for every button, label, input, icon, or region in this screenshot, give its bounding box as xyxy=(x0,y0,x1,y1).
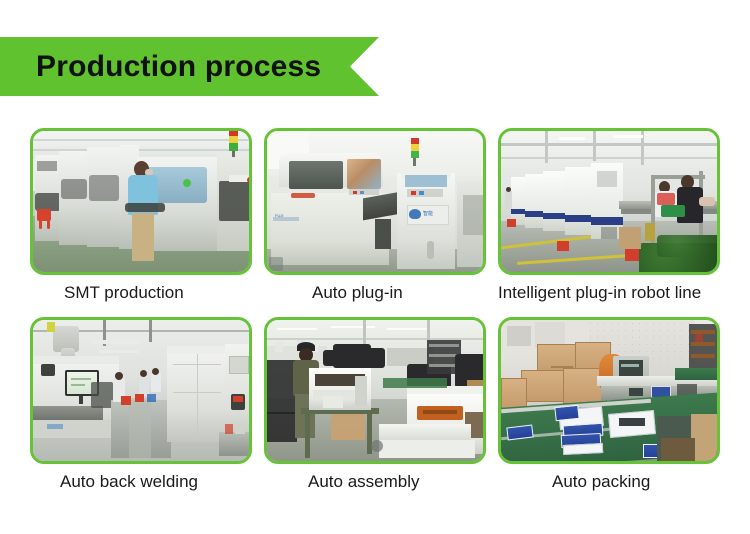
card-caption: Auto plug-in xyxy=(264,283,486,303)
process-card-smt-production[interactable]: SMT production xyxy=(30,128,252,303)
photo-frame xyxy=(30,128,252,275)
process-card-auto-plug-in[interactable]: FUJI 智能 xyxy=(264,128,486,303)
photo-frame: FUJI 智能 xyxy=(264,128,486,275)
page-title-banner: Production process xyxy=(0,37,379,96)
process-card-grid: SMT production FUJI xyxy=(30,128,720,492)
process-card-auto-back-welding[interactable]: Auto back welding xyxy=(30,317,252,492)
photo-frame xyxy=(264,317,486,464)
card-caption: SMT production xyxy=(30,283,252,303)
card-caption: Auto assembly xyxy=(264,472,486,492)
card-caption: Auto packing xyxy=(498,472,720,492)
intelligent-plug-in-robot-line-photo xyxy=(501,131,717,272)
process-card-intelligent-plug-in-robot-line[interactable]: Intelligent plug-in robot line xyxy=(498,128,720,303)
auto-plug-in-photo: FUJI 智能 xyxy=(267,131,483,272)
card-caption: Intelligent plug-in robot line xyxy=(498,283,720,303)
photo-frame xyxy=(498,128,720,275)
auto-packing-photo xyxy=(501,320,717,461)
process-card-auto-packing[interactable]: Auto packing xyxy=(498,317,720,492)
process-card-auto-assembly[interactable]: Auto assembly xyxy=(264,317,486,492)
page-title: Production process xyxy=(36,37,321,96)
auto-back-welding-photo xyxy=(33,320,249,461)
photo-frame xyxy=(30,317,252,464)
smt-production-photo xyxy=(33,131,249,272)
photo-frame xyxy=(498,317,720,464)
card-caption: Auto back welding xyxy=(30,472,252,492)
auto-assembly-photo xyxy=(267,320,483,461)
